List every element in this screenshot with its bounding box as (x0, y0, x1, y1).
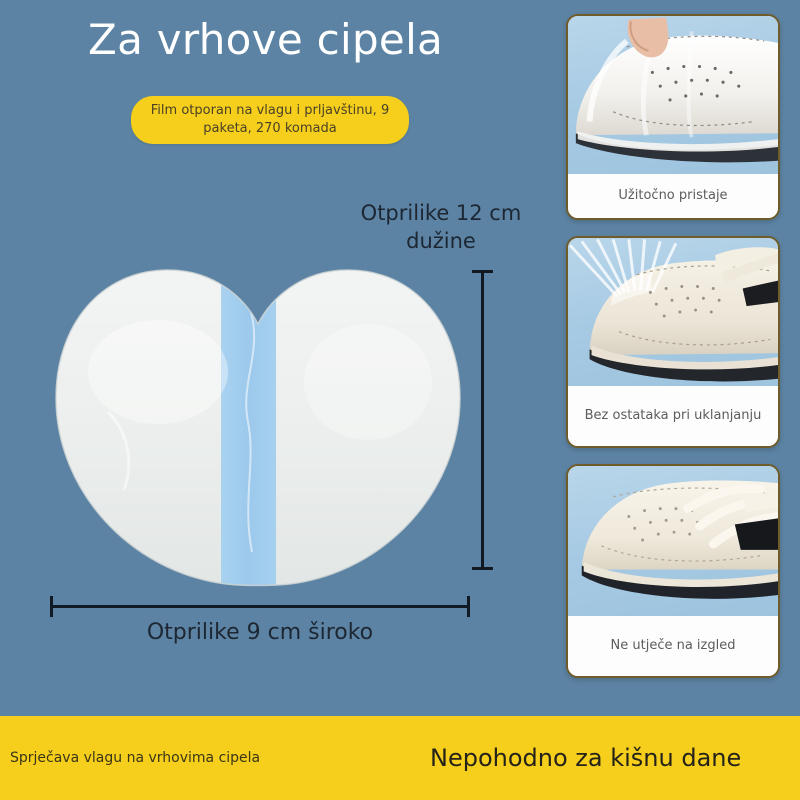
height-dimension-label: Otprilike 12 cm dužine (332, 200, 550, 255)
width-dimension-label: Otprilike 9 cm široko (40, 620, 480, 645)
feature-panel-no-residue: Bez ostataka pri uklanjanju (566, 236, 780, 448)
photo-film-peeled-off-sneaker (568, 238, 778, 386)
page-title: Za vrhove cipela (88, 18, 443, 62)
width-tick-right (467, 596, 470, 617)
feature-panel-fits-well: Užitočno pristaje (566, 14, 780, 220)
product-image (48, 262, 468, 592)
photo-finger-pressing-film-on-sneaker (568, 16, 778, 174)
panel-caption-no-residue: Bez ostataka pri uklanjanju (568, 386, 778, 446)
height-tick-top (472, 270, 493, 273)
footer-bar: Sprječava vlagu na vrhovima cipela Nepoh… (0, 716, 800, 800)
width-tick-left (50, 596, 53, 617)
footer-left-text: Sprječava vlagu na vrhovima cipela (10, 750, 260, 766)
height-dimension-line (481, 270, 484, 570)
infographic-canvas: Za vrhove cipela Film otporan na vlagu i… (0, 0, 800, 800)
feature-badge: Film otporan na vlagu i prljavštinu, 9 p… (131, 96, 409, 144)
footer-right-text: Nepohodno za kišnu dane (430, 744, 741, 772)
panel-caption-no-appearance-change: Ne utječe na izgled (568, 616, 778, 676)
feature-panel-no-appearance-change: Ne utječe na izgled (566, 464, 780, 678)
height-tick-bottom (472, 567, 493, 570)
panel-caption-fits-well: Užitočno pristaje (568, 174, 778, 218)
width-dimension-line (50, 605, 470, 608)
photo-clean-sneaker-toe (568, 466, 778, 616)
